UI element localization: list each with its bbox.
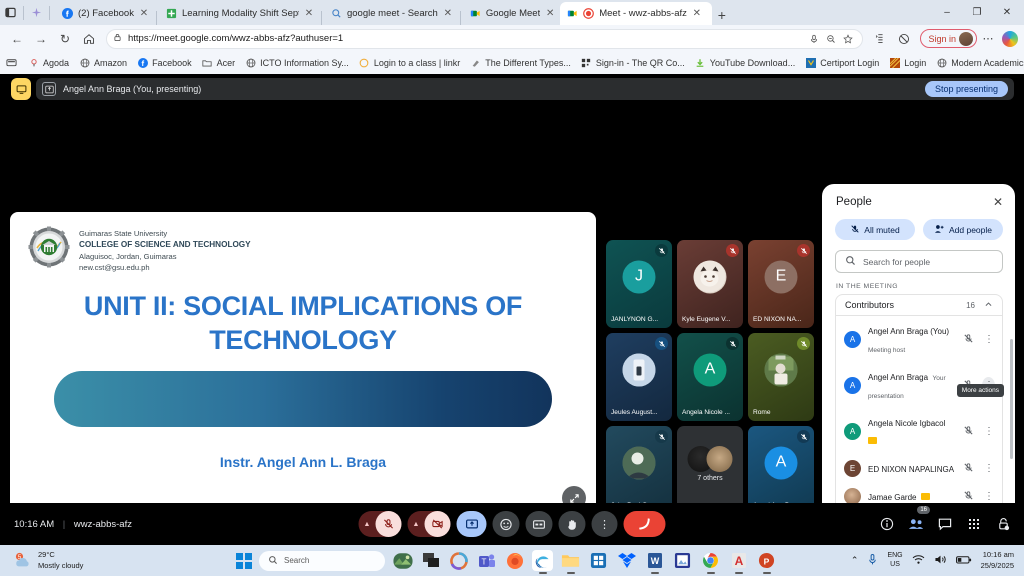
- mic-off-icon[interactable]: [376, 511, 402, 537]
- participant-name: Jamae Garde: [868, 493, 916, 502]
- search-placeholder: Search for people: [863, 257, 930, 267]
- participant-name-block: Angela Nicole Igbacol: [868, 413, 955, 449]
- svg-text:W: W: [650, 556, 659, 566]
- bookmarks-panel-icon[interactable]: [6, 57, 17, 70]
- search-icon: [268, 555, 278, 567]
- home-icon[interactable]: [78, 28, 100, 50]
- bookmark-label: Login to a class | linkr: [374, 58, 460, 68]
- globe-icon: [936, 58, 947, 69]
- call-controls: ▲ ▲: [359, 511, 666, 537]
- bookmark-item[interactable]: YouTube Download...: [690, 56, 800, 71]
- participant-name: Angela Nicole Igbacol: [868, 419, 945, 428]
- people-panel-actions: All muted Add people: [822, 215, 1015, 248]
- meet-icon: [470, 8, 481, 19]
- close-icon[interactable]: ✕: [993, 195, 1003, 209]
- divider: [321, 11, 322, 25]
- cloud-icon: 5: [14, 552, 32, 570]
- windows-start-icon[interactable]: [236, 553, 252, 569]
- tracking-prevention-icon[interactable]: [893, 28, 915, 50]
- present-screen-icon: [42, 82, 56, 96]
- list-item[interactable]: A Angela Nicole Igbacol ⋮: [836, 408, 1002, 454]
- bookmark-label: Sign-in - The QR Co...: [596, 58, 685, 68]
- tab-label: (2) Facebook: [78, 8, 134, 19]
- tab-close-icon[interactable]: ✕: [139, 9, 149, 19]
- all-muted-button[interactable]: All muted: [835, 219, 915, 240]
- emoji-button[interactable]: [493, 511, 520, 537]
- tab-close-icon[interactable]: ✕: [545, 9, 555, 19]
- people-count-badge: 16: [917, 506, 930, 514]
- language-indicator[interactable]: ENG US: [887, 552, 902, 568]
- university-name: Guimaras State University: [79, 228, 251, 239]
- svg-text:P: P: [764, 556, 770, 566]
- tray-expand-icon[interactable]: ⌃: [851, 555, 859, 566]
- wifi-icon[interactable]: [912, 554, 925, 567]
- participant-name: JANLYNON G...: [611, 316, 668, 323]
- tab-label: google meet - Search: [347, 8, 438, 19]
- browser-tab[interactable]: Learning Modality Shift Septembe ✕: [159, 2, 319, 25]
- contributors-group-header[interactable]: Contributors 16: [835, 294, 1003, 316]
- participant-name: Angela Nicole ...: [682, 409, 739, 416]
- participant-tile[interactable]: E ED NIXON NA...: [748, 240, 814, 328]
- participant-name-block: ED NIXON NAPALINGA: [868, 459, 955, 477]
- participant-tile[interactable]: John Paul Ga...: [606, 426, 672, 514]
- browser-window: (2) Facebook ✕ Learning Modality Shift S…: [0, 0, 1024, 545]
- bookmark-label: The Different Types...: [485, 58, 571, 68]
- bookmark-item[interactable]: Amazon: [74, 56, 132, 71]
- participant-tile[interactable]: A Angela Nicole ...: [677, 333, 743, 421]
- bookmark-label: Modern Academics...: [951, 58, 1024, 68]
- avatar: A: [694, 353, 727, 386]
- word-icon[interactable]: W: [644, 550, 665, 571]
- chrome-icon[interactable]: [700, 550, 721, 571]
- search-placeholder: Search: [284, 556, 309, 565]
- participant-name: Angel Ann Braga (You): [868, 327, 949, 336]
- participant-tile[interactable]: Kyle Eugene V...: [677, 240, 743, 328]
- participant-tile[interactable]: Jeules August...: [606, 333, 672, 421]
- bookmark-item[interactable]: Sign-in - The QR Co...: [576, 56, 690, 71]
- presenting-banner: Angel Ann Braga (You, presenting) Stop p…: [36, 78, 1014, 100]
- powerpoint-icon[interactable]: P: [756, 550, 777, 571]
- email: new.cst@gsu.edu.ph: [79, 262, 251, 273]
- list-item[interactable]: A Angel Ann Braga (You) Meeting host ⋮: [836, 316, 1002, 362]
- address-bar-actions: [806, 31, 856, 47]
- meeting-details-icon[interactable]: [879, 515, 895, 533]
- search-input[interactable]: Search: [259, 551, 385, 571]
- divider: [23, 6, 24, 20]
- download-icon: [695, 58, 706, 69]
- bookmark-item[interactable]: The Different Types...: [465, 56, 576, 71]
- participant-name: ED NIXON NA...: [753, 316, 810, 323]
- chat-icon[interactable]: [937, 515, 953, 533]
- mic-off-icon: [726, 337, 739, 350]
- edge-icon[interactable]: [532, 550, 553, 571]
- divider: [49, 6, 50, 20]
- windows-taskbar: 5 29°C Mostly cloudy Search T: [0, 545, 1024, 576]
- all-muted-label: All muted: [864, 225, 899, 235]
- participant-tiles: J JANLYNON G... Kyle Eugene V... E ED NI…: [606, 240, 814, 514]
- mic-off-icon: [797, 430, 810, 443]
- meet-right-controls: 16: [879, 515, 1011, 533]
- search-icon: [845, 255, 856, 268]
- bookmarks-bar: Agoda Amazon Facebook Acer ICTO Informat…: [0, 52, 1024, 74]
- slide-author: Instr. Angel Ann L. Braga: [10, 454, 596, 470]
- mic-off-icon: [797, 244, 810, 257]
- globe-icon: [245, 58, 256, 69]
- dropbox-icon[interactable]: [616, 550, 637, 571]
- more-actions-icon[interactable]: ⋮: [982, 491, 995, 502]
- people-panel-icon[interactable]: 16: [908, 515, 924, 533]
- presenting-badge-icon: [868, 437, 877, 444]
- list-item[interactable]: E ED NIXON NAPALINGA ⋮: [836, 454, 1002, 482]
- tab-actions-icon[interactable]: [4, 6, 17, 19]
- participant-name: ED NIXON NAPALINGA: [868, 465, 954, 474]
- presenting-badge-icon: [921, 493, 930, 500]
- new-tab-button[interactable]: +: [712, 5, 732, 25]
- teams-icon[interactable]: T: [476, 550, 497, 571]
- bookmark-label: YouTube Download...: [710, 58, 795, 68]
- end-call-button[interactable]: [624, 511, 666, 537]
- search-input[interactable]: Search for people: [835, 250, 1003, 273]
- meeting-time: 10:16 AM: [14, 519, 54, 530]
- slide-decorative-bar: [54, 371, 552, 427]
- qr-icon: [581, 58, 592, 69]
- divider: [156, 11, 157, 25]
- clock-time: 10:16 am: [981, 550, 1014, 560]
- bookmark-item[interactable]: Agoda: [23, 56, 74, 71]
- doc-icon: [166, 8, 177, 19]
- bookmark-label: Login: [904, 58, 926, 68]
- bookmark-item[interactable]: ICTO Information Sy...: [240, 56, 354, 71]
- others-count-label: 7 others: [677, 475, 743, 482]
- people-panel-title: People: [836, 196, 872, 208]
- google-meet-app: Angel Ann Braga (You, presenting) Stop p…: [0, 74, 1024, 545]
- avatar-photo: [623, 353, 656, 386]
- divider: [460, 11, 461, 25]
- lock-icon: [113, 33, 122, 45]
- avatar: [844, 488, 861, 505]
- facebook-icon: [62, 8, 73, 19]
- bookmark-label: ICTO Information Sy...: [260, 58, 349, 68]
- search-icon: [331, 8, 342, 19]
- chevron-up-icon[interactable]: ▲: [408, 521, 425, 528]
- chevron-up-icon[interactable]: [984, 300, 993, 311]
- mic-off-icon[interactable]: [962, 425, 975, 438]
- add-person-icon: [934, 224, 945, 236]
- participant-tile-others[interactable]: 7 others: [677, 426, 743, 514]
- mic-off-icon[interactable]: [962, 462, 975, 475]
- volume-icon[interactable]: [934, 554, 947, 567]
- meeting-code: wwz-abbs-afz: [74, 519, 132, 530]
- slide-title: UNIT II: SOCIAL IMPLICATIONS OF TECHNOLO…: [10, 289, 596, 357]
- meet-icon: [567, 8, 578, 19]
- divider: |: [57, 519, 71, 530]
- folder-icon: [202, 58, 213, 69]
- avatar: [959, 32, 973, 46]
- address: Alaguisoc, Jordan, Guimaras: [79, 251, 251, 262]
- slide-letterhead: Guimaras State University COLLEGE OF SCI…: [10, 212, 596, 273]
- browser-tab-active[interactable]: Meet - wwz-abbs-afz ✕: [560, 2, 712, 25]
- avatar: [707, 446, 733, 472]
- avatar: E: [844, 460, 861, 477]
- avatar: A: [844, 377, 861, 394]
- camera-off-icon[interactable]: [425, 511, 451, 537]
- more-actions-icon[interactable]: ⋮: [982, 463, 995, 474]
- brush-icon: [470, 58, 481, 69]
- participant-name-block: Angel Ann Braga (You) Meeting host: [868, 321, 955, 357]
- avatar: J: [623, 260, 656, 293]
- adobe-acrobat-icon[interactable]: A: [728, 550, 749, 571]
- chevron-up-icon[interactable]: ▲: [359, 521, 376, 528]
- tab-close-icon[interactable]: ✕: [692, 9, 702, 19]
- minimize-button[interactable]: –: [932, 0, 962, 25]
- weather-temp: 29°C: [38, 550, 83, 560]
- presentation-stage[interactable]: Guimaras State University COLLEGE OF SCI…: [10, 212, 596, 519]
- tooltip-content: More actions: [957, 384, 1004, 397]
- meeting-info: 10:16 AM | wwz-abbs-afz: [0, 519, 132, 530]
- bookmark-item[interactable]: Login to a class | linkr: [354, 56, 465, 71]
- avatar: E: [765, 260, 798, 293]
- participant-name: Jeules August...: [611, 409, 668, 416]
- battery-icon[interactable]: [956, 555, 972, 567]
- reload-icon[interactable]: ↻: [54, 28, 76, 50]
- tab-close-icon[interactable]: ✕: [443, 9, 453, 19]
- bookmark-label: Certiport Login: [820, 58, 879, 68]
- tab-label: Meet - wwz-abbs-afz: [599, 8, 687, 19]
- bookmark-item[interactable]: Acer: [197, 56, 241, 71]
- more-options-button[interactable]: ⋮: [592, 511, 618, 537]
- university-seal-icon: [28, 226, 70, 268]
- scrollbar-thumb[interactable]: [1010, 339, 1013, 459]
- bookmark-label: Facebook: [152, 58, 192, 68]
- bookmark-label: Agoda: [43, 58, 69, 68]
- host-controls-lock-icon[interactable]: [995, 515, 1011, 533]
- more-actions-icon[interactable]: ⋮: [982, 334, 995, 345]
- file-explorer-icon[interactable]: [560, 550, 581, 571]
- tab-label: Learning Modality Shift Septembe: [182, 8, 299, 19]
- circle-icon: [359, 58, 370, 69]
- svg-text:A: A: [734, 554, 743, 568]
- facebook-icon: [137, 58, 148, 69]
- task-view-icon[interactable]: [420, 550, 441, 571]
- participant-tile[interactable]: J JANLYNON G...: [606, 240, 672, 328]
- stop-presenting-button[interactable]: Stop presenting: [925, 81, 1008, 97]
- avatar-photo: [694, 260, 727, 293]
- copilot-icon[interactable]: [1002, 31, 1018, 47]
- present-now-button[interactable]: [457, 511, 487, 537]
- bookmark-item[interactable]: Facebook: [132, 56, 197, 71]
- svg-text:T: T: [481, 557, 486, 566]
- maximize-button[interactable]: ❐: [962, 0, 992, 25]
- microphone-control[interactable]: ▲: [359, 511, 402, 537]
- system-tray: ⌃ ENG US 10:16 am 25/9/2025: [851, 550, 1014, 570]
- copilot-sidebar-icon[interactable]: [30, 6, 43, 19]
- mic-off-icon: [726, 244, 739, 257]
- mic-off-icon: [655, 430, 668, 443]
- navigation-bar: ← → ↻ https://meet.google.com/wwz-abbs-a…: [0, 25, 1024, 52]
- mic-off-icon[interactable]: [962, 490, 975, 503]
- forward-icon[interactable]: →: [30, 28, 52, 50]
- meet-control-bar: 10:16 AM | wwz-abbs-afz ▲ ▲: [0, 503, 1024, 545]
- presenting-indicator-icon[interactable]: [11, 78, 31, 100]
- mic-off-icon: [655, 244, 668, 257]
- people-panel-header: People ✕: [822, 184, 1015, 215]
- copilot-icon[interactable]: [448, 550, 469, 571]
- widgets-icon[interactable]: [392, 550, 413, 571]
- photos-icon[interactable]: [672, 550, 693, 571]
- bookmark-item[interactable]: Login: [884, 56, 931, 71]
- url-text: https://meet.google.com/wwz-abbs-afz?aut…: [128, 33, 343, 44]
- close-window-button[interactable]: ✕: [992, 0, 1022, 25]
- recording-indicator-icon: [583, 8, 594, 19]
- zoom-out-icon[interactable]: [823, 31, 839, 47]
- participant-tile[interactable]: Rome: [748, 333, 814, 421]
- presenting-text: Angel Ann Braga (You, presenting): [63, 84, 201, 94]
- in-the-meeting-label: IN THE MEETING: [822, 273, 1015, 294]
- avatar: A: [765, 446, 798, 479]
- microsoft-store-icon[interactable]: [588, 550, 609, 571]
- clock-date: 25/9/2025: [981, 561, 1014, 571]
- add-people-label: Add people: [949, 225, 992, 235]
- stripes-icon: [889, 58, 900, 69]
- list-item[interactable]: A Angel Ann Braga Your presentation ⋮ Mo…: [836, 362, 1002, 408]
- mic-off-icon: [797, 337, 810, 350]
- activities-icon[interactable]: [966, 515, 982, 533]
- avatar: A: [844, 423, 861, 440]
- firefox-icon[interactable]: [504, 550, 525, 571]
- mic-off-icon: [655, 337, 668, 350]
- captions-button[interactable]: [526, 511, 553, 537]
- mic-icon[interactable]: [867, 553, 878, 568]
- globe-icon: [79, 58, 90, 69]
- window-controls: – ❐ ✕: [932, 0, 1022, 25]
- mic-off-icon: [850, 224, 860, 236]
- clock[interactable]: 10:16 am 25/9/2025: [981, 550, 1014, 570]
- agoda-icon: [28, 58, 39, 69]
- back-icon[interactable]: ←: [6, 28, 28, 50]
- participant-name: Angel Ann Braga: [868, 373, 928, 382]
- tab-close-icon[interactable]: ✕: [304, 9, 314, 19]
- contributors-count: 16: [966, 301, 984, 310]
- mic-icon[interactable]: [806, 31, 822, 47]
- contributors-label: Contributors: [845, 300, 894, 310]
- participant-tile[interactable]: A Angel Ann Br...: [748, 426, 814, 514]
- favorite-star-icon[interactable]: [840, 31, 856, 47]
- language-region: US: [887, 561, 902, 569]
- college-name: COLLEGE OF SCIENCE AND TECHNOLOGY: [79, 239, 251, 251]
- bookmark-label: Acer: [217, 58, 236, 68]
- participant-name: Kyle Eugene V...: [682, 316, 739, 323]
- weather-desc: Mostly cloudy: [38, 561, 83, 571]
- tab-strip: (2) Facebook ✕ Learning Modality Shift S…: [0, 0, 1024, 25]
- browser-tab[interactable]: Google Meet ✕: [463, 2, 560, 25]
- browser-tab[interactable]: (2) Facebook ✕: [55, 2, 154, 25]
- language-code: ENG: [887, 552, 902, 560]
- camera-control[interactable]: ▲: [408, 511, 451, 537]
- avatar: A: [844, 331, 861, 348]
- sign-in-button[interactable]: Sign in: [920, 29, 977, 48]
- tabstrip-leading-controls: [4, 0, 55, 25]
- avatar-photo: [765, 353, 798, 386]
- participant-name-block: Angel Ann Braga Your presentation: [868, 367, 955, 403]
- weather-widget[interactable]: 5 29°C Mostly cloudy: [0, 550, 83, 570]
- mic-off-icon[interactable]: [962, 333, 975, 346]
- participant-role: Meeting host: [868, 347, 905, 354]
- weather-text: 29°C Mostly cloudy: [38, 550, 83, 570]
- more-settings-icon[interactable]: ⋯: [979, 30, 997, 48]
- add-people-button[interactable]: Add people: [923, 219, 1003, 240]
- bookmark-item[interactable]: Certiport Login: [800, 56, 884, 71]
- avatar-photo: [623, 446, 656, 479]
- raise-hand-button[interactable]: [559, 511, 586, 537]
- certiport-icon: [805, 58, 816, 69]
- collections-icon[interactable]: [869, 28, 891, 50]
- tab-label: Google Meet: [486, 8, 540, 19]
- taskbar-center: Search T W: [236, 550, 777, 571]
- sign-in-label: Sign in: [928, 34, 956, 44]
- browser-tab[interactable]: google meet - Search ✕: [324, 2, 458, 25]
- avatar-stack: [688, 446, 733, 472]
- bookmark-item[interactable]: Modern Academics...: [931, 56, 1024, 71]
- participant-name: Rome: [753, 409, 810, 416]
- bookmark-label: Amazon: [94, 58, 127, 68]
- more-actions-icon[interactable]: ⋮: [982, 426, 995, 437]
- address-bar[interactable]: https://meet.google.com/wwz-abbs-afz?aut…: [106, 29, 863, 49]
- slide-letterhead-text: Guimaras State University COLLEGE OF SCI…: [79, 226, 251, 273]
